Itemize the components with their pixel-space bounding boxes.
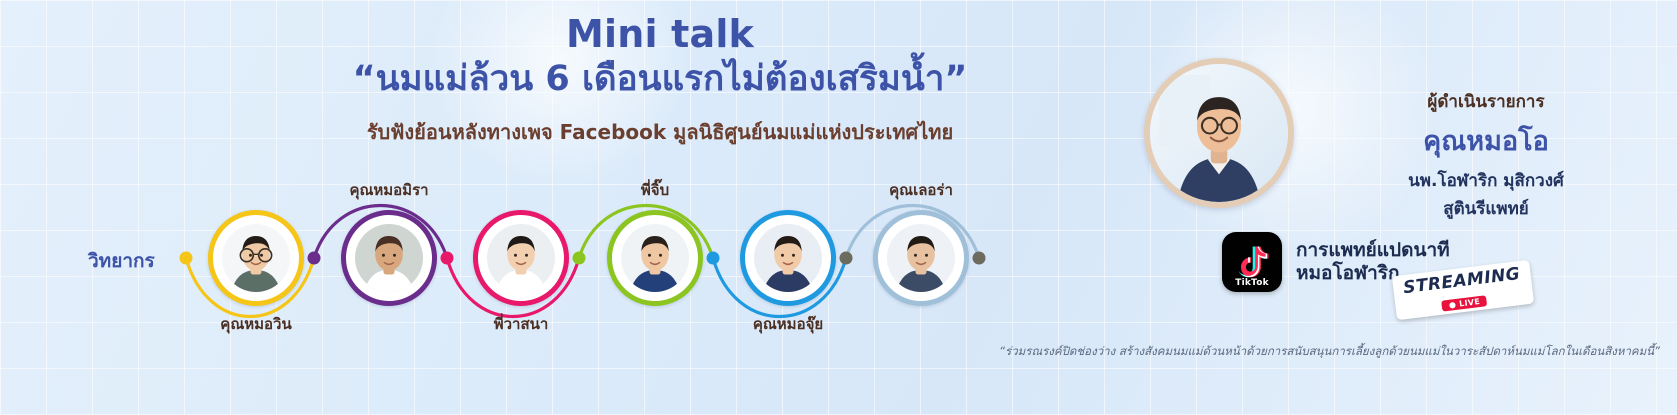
speaker-name: คุณหมอจุ๊ย	[753, 312, 823, 336]
channel-name-line1: การแพทย์แปดนาที	[1296, 239, 1450, 262]
speaker-ring	[873, 210, 969, 306]
footer-caption: “ร่วมรณรงค์ปิดช่องว่าง สร้างสังคมนมแม่ด้…	[830, 343, 1660, 361]
speaker-portrait-icon	[887, 224, 955, 292]
tiktok-label: TikTok	[1235, 278, 1269, 288]
speaker-photo	[352, 221, 426, 295]
tiktok-icon[interactable]: TikTok	[1222, 232, 1282, 292]
connector-dot	[707, 252, 720, 265]
live-badge: ● LIVE	[1441, 295, 1487, 311]
tiktok-note-glyph	[1235, 244, 1269, 280]
speaker-portrait-icon	[487, 224, 555, 292]
headline-subtitle: รับฟังย้อนหลังทางเพจ Facebook มูลนิธิศูน…	[250, 116, 1070, 148]
connector-dot	[308, 252, 321, 265]
headline-quote: “นมแม่ล้วน 6 เดือนแรกไม่ต้องเสริมน้ำ”	[250, 58, 1070, 102]
host-nickname: คุณหมอโอ	[1306, 119, 1666, 162]
host-details: ผู้ดำเนินรายการ คุณหมอโอ นพ.โอฬาริก มุสิ…	[1306, 88, 1666, 222]
connector-dot	[840, 252, 853, 265]
speaker-name: คุณเลอร่า	[889, 178, 953, 202]
speaker-name: พี่วาสนา	[494, 312, 549, 336]
speaker-avatar[interactable]: พี่วาสนา	[473, 210, 569, 306]
host-portrait-icon	[1150, 64, 1288, 202]
speaker-avatar[interactable]: พี่จิ๊บ	[607, 210, 703, 306]
headline-block: Mini talk “นมแม่ล้วน 6 เดือนแรกไม่ต้องเส…	[250, 14, 1070, 148]
speaker-avatar[interactable]: คุณหมอวิน	[208, 210, 304, 306]
host-role: ผู้ดำเนินรายการ	[1306, 88, 1666, 115]
speaker-ring	[341, 210, 437, 306]
speaker-name: พี่จิ๊บ	[641, 178, 669, 202]
connector-dot	[973, 252, 986, 265]
speaker-portrait-icon	[621, 224, 689, 292]
connector-dot	[573, 252, 586, 265]
poster-canvas: Mini talk “นมแม่ล้วน 6 เดือนแรกไม่ต้องเส…	[0, 0, 1677, 415]
speaker-photo	[884, 221, 958, 295]
connector-dot	[180, 252, 193, 265]
host-avatar	[1144, 58, 1294, 208]
speaker-photo	[751, 221, 825, 295]
speaker-name: คุณหมอมิรา	[349, 178, 428, 202]
speaker-avatar[interactable]: คุณหมอจุ๊ย	[740, 210, 836, 306]
speaker-photo	[618, 221, 692, 295]
host-full-name: นพ.โอฬาริก มุสิกวงศ์	[1306, 167, 1666, 194]
host-specialty: สูตินรีแพทย์	[1306, 195, 1666, 222]
speaker-ring	[208, 210, 304, 306]
speaker-portrait-icon	[355, 224, 423, 292]
speaker-portrait-icon	[222, 224, 290, 292]
speaker-photo	[219, 221, 293, 295]
speakers-row: คุณหมอวิน คุณหมอมิรา	[0, 178, 1100, 358]
speaker-avatar[interactable]: คุณเลอร่า	[873, 210, 969, 306]
speaker-portrait-icon	[754, 224, 822, 292]
page-title: Mini talk	[250, 14, 1070, 56]
speaker-name: คุณหมอวิน	[220, 312, 291, 336]
speaker-avatar[interactable]: คุณหมอมิรา	[341, 210, 437, 306]
speaker-ring	[740, 210, 836, 306]
speaker-ring	[607, 210, 703, 306]
speaker-ring	[473, 210, 569, 306]
live-badge-text: LIVE	[1459, 297, 1481, 308]
connector-dot	[441, 252, 454, 265]
speaker-photo	[484, 221, 558, 295]
